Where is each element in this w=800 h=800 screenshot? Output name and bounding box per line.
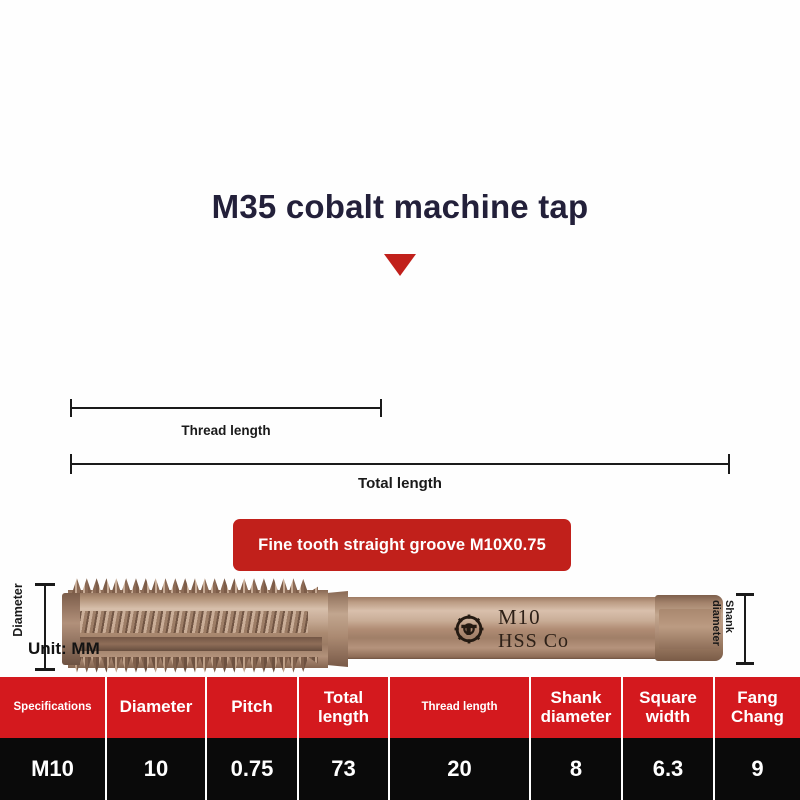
table-header-square-width: Square width — [623, 677, 715, 738]
table-cell-specifications: M10 — [0, 738, 107, 800]
product-illustration: M10 HSS Co Diameter Shank diameter — [0, 285, 800, 400]
table-row: M10 10 0.75 73 20 8 6.3 9 — [0, 738, 800, 800]
table-header-row: Specifications Diameter Pitch Total leng… — [0, 677, 800, 738]
table-header-total-length: Total length — [299, 677, 390, 738]
table-cell-pitch: 0.75 — [207, 738, 299, 800]
tap-thread-teeth-top — [72, 577, 318, 593]
product-variant-banner: Fine tooth straight groove M10X0.75 — [233, 519, 571, 571]
table-header-thread-length: Thread length — [390, 677, 531, 738]
background-watermark — [98, 26, 348, 96]
marking-material-code: HSS Co — [498, 630, 569, 652]
table-cell-total-length: 73 — [299, 738, 390, 800]
table-cell-diameter: 10 — [107, 738, 207, 800]
shank-diameter-label-line2: diameter — [710, 600, 722, 646]
table-header-fang-chang: Fang Chang — [715, 677, 800, 738]
unit-label: Unit: MM — [28, 639, 100, 659]
thread-length-dimension-line — [70, 407, 382, 409]
shank-diameter-label-line1: Shank — [723, 600, 735, 633]
shank-diameter-dimension-label: Shank diameter — [710, 600, 735, 662]
diameter-dimension-label: Diameter — [11, 575, 25, 645]
table-header-pitch: Pitch — [207, 677, 299, 738]
tap-thread-ridges — [80, 611, 308, 633]
tap-straight-flute — [70, 637, 322, 651]
table-header-shank-diameter: Shank diameter — [531, 677, 623, 738]
thread-length-dimension-label: Thread length — [70, 423, 382, 438]
specification-table: Specifications Diameter Pitch Total leng… — [0, 677, 800, 800]
total-length-dimension-label: Total length — [70, 475, 730, 492]
product-variant-banner-text: Fine tooth straight groove M10X0.75 — [258, 536, 546, 555]
table-cell-thread-length: 20 — [390, 738, 531, 800]
triangle-down-icon — [384, 254, 416, 276]
total-length-dimension-line — [70, 463, 730, 465]
table-cell-fang-chang: 9 — [715, 738, 800, 800]
page-title: M35 cobalt machine tap — [0, 188, 800, 226]
product-spec-page: M35 cobalt machine tap — [0, 0, 800, 800]
marking-size-code: M10 — [498, 606, 569, 630]
shank-diameter-dimension-line — [744, 593, 746, 665]
gear-logo-icon — [452, 612, 486, 646]
table-cell-square-width: 6.3 — [623, 738, 715, 800]
table-cell-shank-diameter: 8 — [531, 738, 623, 800]
table-header-diameter: Diameter — [107, 677, 207, 738]
shank-markings: M10 HSS Co — [498, 606, 569, 652]
table-header-specifications: Specifications — [0, 677, 107, 738]
